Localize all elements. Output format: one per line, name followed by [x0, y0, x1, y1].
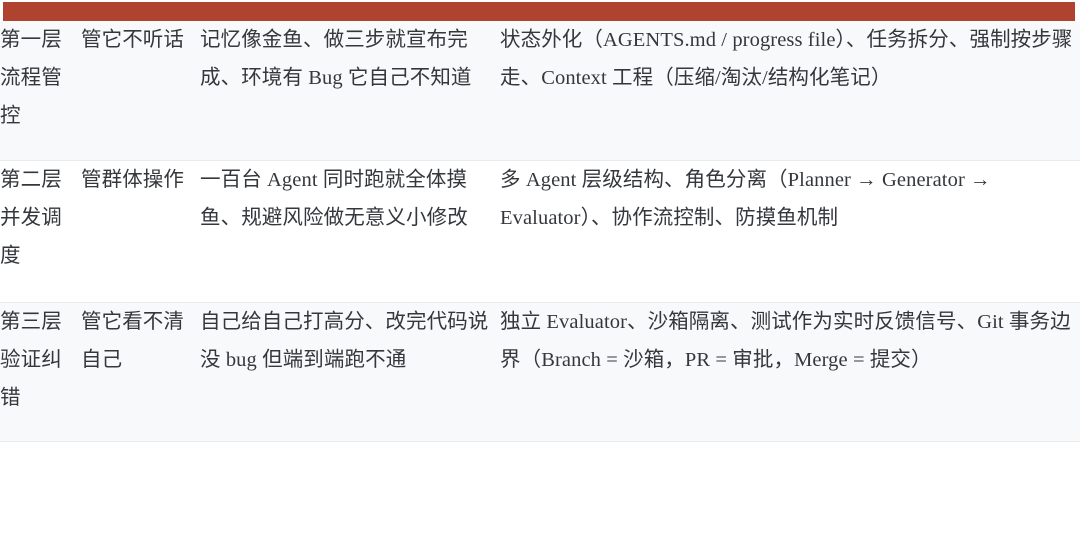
- cell-problem: 管它看不清自己: [81, 303, 200, 442]
- cell-stage: 第二层 并发调度: [0, 161, 81, 303]
- table-row: 第一层 流程管控 管它不听话 记忆像金鱼、做三步就宣布完成、环境有 Bug 它自…: [0, 21, 1080, 161]
- cell-remedy: 独立 Evaluator、沙箱隔离、测试作为实时反馈信号、Git 事务边界（Br…: [500, 303, 1080, 442]
- cell-symptom: 自己给自己打高分、改完代码说没 bug 但端到端跑不通: [200, 303, 500, 442]
- cell-remedy: 状态外化（AGENTS.md / progress file）、任务拆分、强制按…: [500, 21, 1080, 161]
- agent-governance-table: 第一层 流程管控 管它不听话 记忆像金鱼、做三步就宣布完成、环境有 Bug 它自…: [0, 21, 1080, 442]
- cell-remedy: 多 Agent 层级结构、角色分离（Planner → Generator → …: [500, 161, 1080, 303]
- top-accent-bar: [3, 2, 1075, 21]
- cell-stage: 第三层 验证纠错: [0, 303, 81, 442]
- cell-problem: 管它不听话: [81, 21, 200, 161]
- table-row: 第二层 并发调度 管群体操作 一百台 Agent 同时跑就全体摸鱼、规避风险做无…: [0, 161, 1080, 303]
- cell-symptom: 记忆像金鱼、做三步就宣布完成、环境有 Bug 它自己不知道: [200, 21, 500, 161]
- cell-problem: 管群体操作: [81, 161, 200, 303]
- table-row: 第三层 验证纠错 管它看不清自己 自己给自己打高分、改完代码说没 bug 但端到…: [0, 303, 1080, 442]
- cell-symptom: 一百台 Agent 同时跑就全体摸鱼、规避风险做无意义小修改: [200, 161, 500, 303]
- page-root: 第一层 流程管控 管它不听话 记忆像金鱼、做三步就宣布完成、环境有 Bug 它自…: [0, 0, 1080, 555]
- cell-stage: 第一层 流程管控: [0, 21, 81, 161]
- table-body: 第一层 流程管控 管它不听话 记忆像金鱼、做三步就宣布完成、环境有 Bug 它自…: [0, 21, 1080, 442]
